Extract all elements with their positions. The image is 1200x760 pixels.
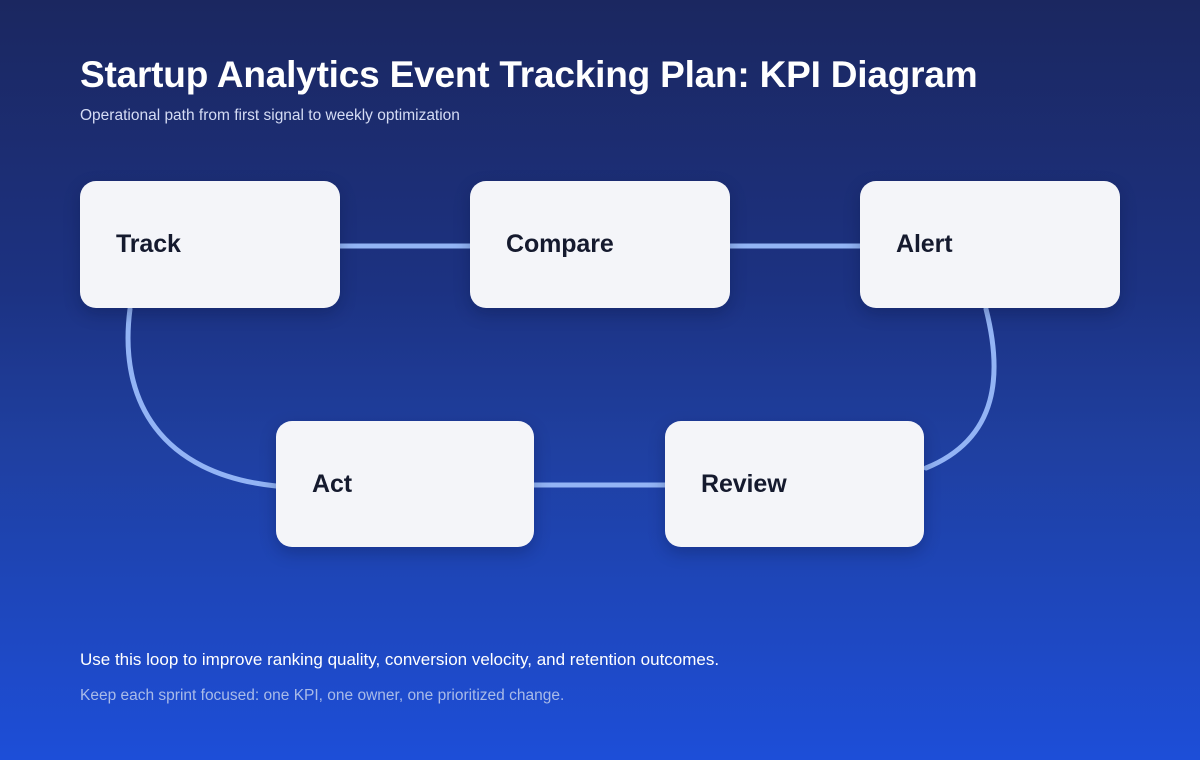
node-track[interactable]: Track — [80, 181, 340, 308]
edge-alert-to-review — [926, 309, 994, 468]
node-compare-label: Compare — [506, 230, 614, 259]
node-compare[interactable]: Compare — [470, 181, 730, 308]
footer-primary-text: Use this loop to improve ranking quality… — [80, 648, 1120, 672]
footer: Use this loop to improve ranking quality… — [80, 648, 1120, 706]
node-track-label: Track — [116, 230, 181, 259]
node-alert[interactable]: Alert — [860, 181, 1120, 308]
node-review[interactable]: Review — [665, 421, 924, 547]
diagram-canvas: Startup Analytics Event Tracking Plan: K… — [0, 0, 1200, 760]
connector-layer — [0, 0, 1200, 760]
node-alert-label: Alert — [896, 230, 952, 259]
node-act-label: Act — [312, 470, 352, 499]
kpi-loop-diagram: Track Compare Alert Act Review — [0, 0, 1200, 760]
edge-act-to-track — [128, 309, 276, 486]
node-review-label: Review — [701, 470, 787, 499]
footer-secondary-text: Keep each sprint focused: one KPI, one o… — [80, 685, 1120, 706]
node-act[interactable]: Act — [276, 421, 534, 547]
